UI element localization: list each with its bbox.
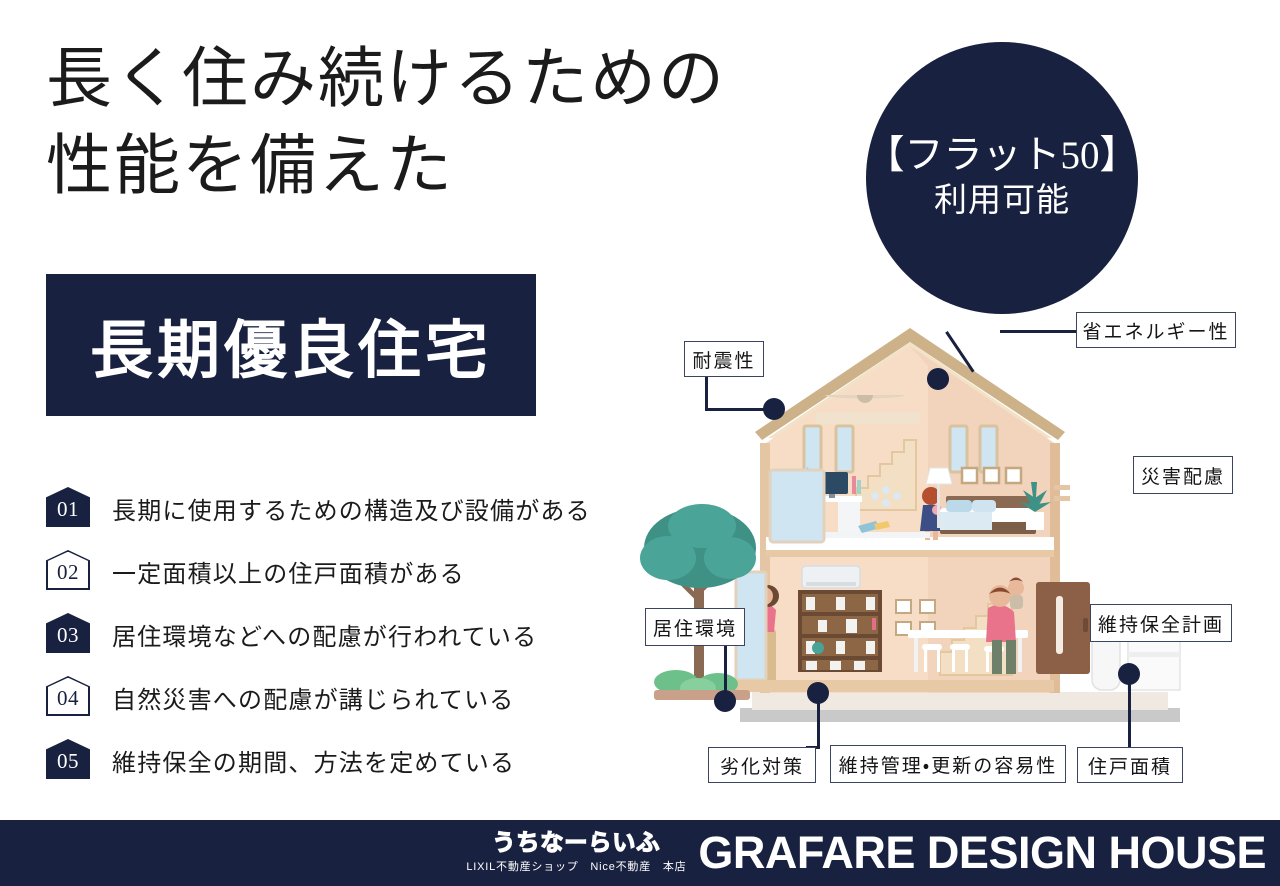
window-upper-1	[804, 426, 821, 472]
requirement-text-02: 一定面積以上の住戸面積がある	[112, 554, 465, 589]
callout-jyuko-menseki[interactable]: 住戸面積	[1077, 747, 1183, 783]
bed-pillow2	[972, 500, 996, 512]
callout-iji-kanri[interactable]: 維持管理・更新の容易性	[830, 745, 1066, 783]
callout-dot-kyoju	[714, 690, 736, 712]
flat50-badge-line2: 利用可能	[934, 182, 1070, 222]
banner-label: 長期優良住宅	[90, 300, 492, 391]
callout-saigai-hairyo[interactable]: 災害配慮	[1133, 456, 1233, 494]
tree-foliage	[640, 504, 756, 588]
callout-dot-taishinsei	[763, 398, 785, 420]
window-upper-2	[836, 426, 853, 472]
picture-frame-3	[1006, 468, 1021, 483]
callout-dot-jyuko	[1118, 663, 1140, 685]
floor-lamp-shade	[926, 468, 952, 484]
interior-door-panel	[1056, 596, 1063, 654]
monitor-stand	[829, 494, 835, 498]
floor-lamp-pole	[937, 484, 940, 528]
requirement-number-05: 05	[57, 751, 79, 772]
flat50-badge: 【フラット50】 利用可能	[866, 42, 1138, 314]
picture-frame-1	[962, 468, 977, 483]
requirement-number-03: 03	[57, 625, 79, 646]
requirement-item-02: 02 一定面積以上の住戸面積がある	[46, 550, 546, 613]
callout-iji-hozen[interactable]: 維持保全計画	[1090, 604, 1232, 642]
requirement-number-badge-01: 01	[46, 487, 90, 527]
upper-rail	[816, 418, 920, 424]
requirement-text-05: 維持保全の期間、方法を定めている	[112, 743, 515, 778]
palm-pot	[1026, 512, 1044, 530]
footer-bar: うちなーらいふ LIXIL不動産ショップ Nice不動産 本店 GRAFARE …	[0, 820, 1280, 886]
picture-frame-2	[984, 468, 999, 483]
leader-line-taishinsei-h	[705, 408, 771, 411]
shop-subtitle: LIXIL不動産ショップ Nice不動産 本店	[466, 858, 686, 874]
requirement-text-04: 自然災害への配慮が講じられている	[112, 680, 514, 715]
shelf-accent	[872, 618, 876, 630]
outdoor-unit-band	[1128, 652, 1180, 657]
chouki-yuuryou-banner: 長期優良住宅	[46, 274, 536, 416]
requirement-text-03: 居住環境などへの配慮が行われている	[112, 617, 537, 652]
callout-kyoju-kankyo[interactable]: 居住環境	[645, 608, 745, 646]
flat50-badge-line1: 【フラット50】	[866, 134, 1139, 178]
requirement-item-04: 04 自然災害への配慮が講じられている	[46, 676, 546, 739]
requirement-number-02: 02	[57, 562, 79, 583]
desk-leg	[838, 502, 860, 534]
brand-name: GRAFARE DESIGN HOUSE	[698, 830, 1266, 875]
requirement-number-badge-05: 05	[46, 739, 90, 779]
leader-line-taishinsei-v	[705, 375, 708, 411]
leader-line-energy-h	[1000, 330, 1080, 333]
eave-trim-right	[1054, 485, 1070, 490]
ground-slab	[740, 708, 1180, 722]
requirement-number-04: 04	[57, 688, 79, 709]
requirement-number-badge-02: 02	[46, 550, 90, 590]
requirement-number-badge-04: 04	[46, 676, 90, 716]
shelf-plant	[812, 642, 824, 654]
bed-pillow	[946, 500, 972, 512]
requirement-item-01: 01 長期に使用するための構造及び設備がある	[46, 487, 546, 550]
requirement-item-03: 03 居住環境などへの配慮が行われている	[46, 613, 546, 676]
callout-dot-rekka	[807, 682, 829, 704]
callout-rekka-taisaku[interactable]: 劣化対策	[708, 747, 816, 783]
upper-floor-edge	[766, 550, 1054, 557]
shop-logo: うちなーらいふ LIXIL不動産ショップ Nice不動産 本店	[466, 830, 686, 876]
callout-dot-energy	[927, 368, 949, 390]
desk-books2	[857, 480, 861, 494]
eave-trim-right2	[1054, 496, 1070, 501]
callout-shou-energy[interactable]: 省エネルギー性	[1076, 312, 1236, 348]
dining-table-leg-r	[1018, 638, 1022, 672]
requirement-number-badge-03: 03	[46, 613, 90, 653]
requirement-number-01: 01	[57, 499, 79, 520]
requirement-text-01: 長期に使用するための構造及び設備がある	[112, 491, 591, 526]
dining-table-leg-l	[914, 638, 918, 672]
interior-door-handle	[1083, 618, 1088, 632]
callout-taishinsei[interactable]: 耐震性	[684, 341, 764, 377]
shop-name: うちなーらいふ	[492, 830, 660, 854]
desk-books	[852, 476, 856, 494]
requirement-list: 01 長期に使用するための構造及び設備がある 02 一定面積以上の住戸面積がある…	[46, 487, 546, 802]
window-upper-4	[980, 426, 997, 472]
ac-vent	[806, 582, 856, 586]
requirement-item-05: 05 維持保全の期間、方法を定めている	[46, 739, 546, 802]
exterior-window-upper-left	[770, 470, 824, 542]
bed-blanket	[940, 512, 992, 530]
window-upper-3	[950, 426, 967, 472]
page-headline: 長く住み続けるための 性能を備えた	[46, 36, 846, 210]
